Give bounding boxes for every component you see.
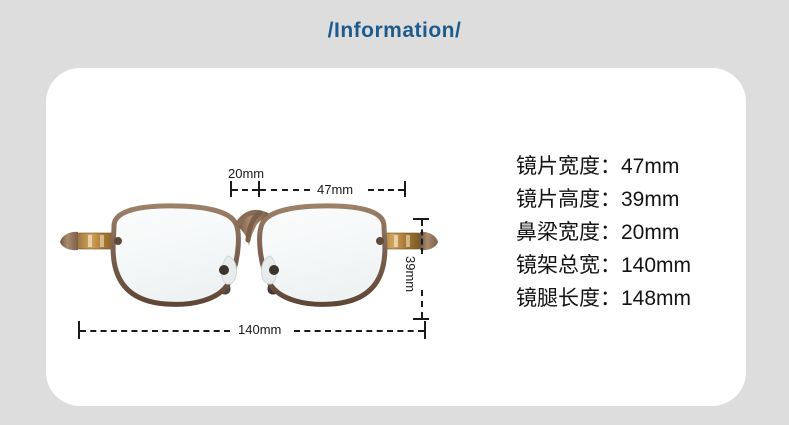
spec-value-lens-height: 39mm [621,188,679,211]
eyeglasses-dimension-diagram: 20mm 47mm [46,68,466,406]
tick-lens-width-right [404,181,406,197]
dash-lens-width-right [368,189,404,191]
spec-row-temple-length: 镜腿长度：148mm [516,282,746,315]
dash-total-width-left [80,330,230,332]
spec-label-total-width: 镜架总宽 [516,254,600,277]
dash-lens-height-bottom [421,290,423,318]
spec-value-temple-length: 148mm [621,287,691,310]
dash-bridge-width [232,189,258,191]
spec-value-total-width: 140mm [621,254,691,277]
label-bridge-width: 20mm [228,166,264,181]
page-title: /Information/ [0,19,789,43]
spec-separator: ： [600,287,621,310]
spec-separator: ： [600,155,621,178]
spec-label-temple-length: 镜腿长度 [516,287,600,310]
dash-total-width-right [294,330,424,332]
spec-row-total-width: 镜架总宽：140mm [516,249,746,282]
spec-label-lens-width: 镜片宽度 [516,155,600,178]
spec-row-lens-height: 镜片高度：39mm [516,183,746,216]
spec-value-lens-width: 47mm [621,155,679,178]
spec-value-bridge-width: 20mm [621,221,679,244]
label-lens-height: 39mm [401,252,420,296]
spec-separator: ： [600,254,621,277]
spec-separator: ： [600,221,621,244]
eyeglasses-image [52,196,446,314]
label-lens-width: 47mm [312,182,358,197]
spec-label-lens-height: 镜片高度 [516,188,600,211]
dash-lens-width-left [260,189,310,191]
dash-lens-height-top [421,220,423,254]
spec-separator: ： [600,188,621,211]
spec-row-lens-width: 镜片宽度：47mm [516,150,746,183]
tick-lens-height-bottom [413,318,429,320]
tick-total-width-right [424,321,426,339]
label-total-width: 140mm [231,322,288,337]
spec-row-bridge-width: 鼻梁宽度：20mm [516,216,746,249]
specification-list: 镜片宽度：47mm 镜片高度：39mm 鼻梁宽度：20mm 镜架总宽：140mm… [516,150,746,315]
spec-label-bridge-width: 鼻梁宽度 [516,221,600,244]
information-card: 20mm 47mm [46,68,746,406]
